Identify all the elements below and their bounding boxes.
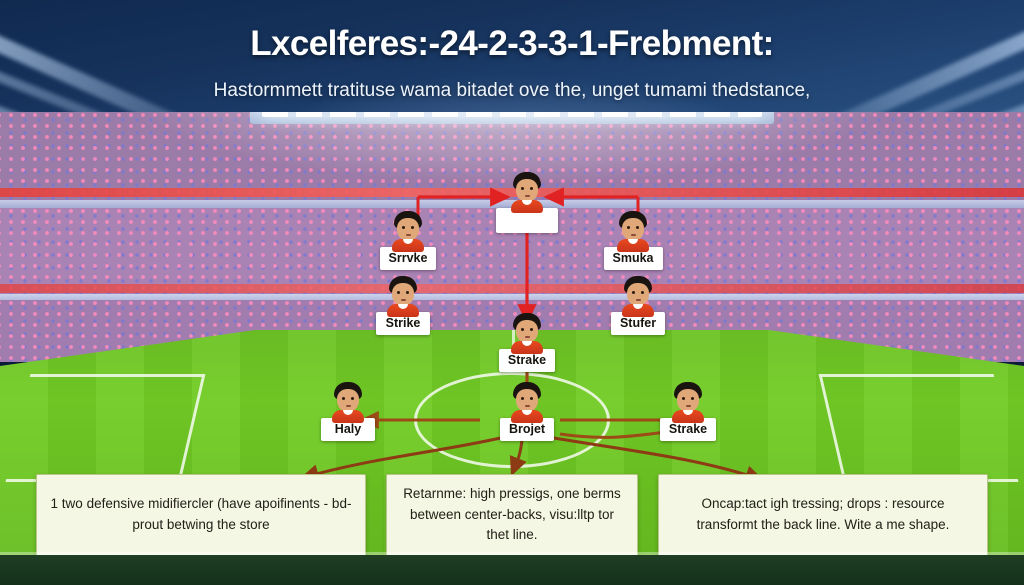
player-token[interactable] [489, 172, 565, 238]
formation-diagram-stage: Lxcelferes:-24-2-3-3-1-Frebment: Hastorm… [0, 0, 1024, 585]
player-avatar-icon [391, 211, 425, 249]
player-avatar-icon [671, 382, 705, 420]
player-token[interactable]: Srrvke [370, 211, 446, 270]
penalty-box-right [819, 374, 1019, 482]
player-avatar-icon [510, 382, 544, 420]
floodlight-bank-icon [262, 112, 762, 117]
player-avatar-icon [616, 211, 650, 249]
player-token[interactable]: Brojet [489, 382, 565, 441]
player-avatar-icon [510, 172, 544, 210]
caption-box-3: Oncap:tact igh tressing; drops : resourc… [658, 474, 988, 556]
footer-band [0, 555, 1024, 585]
player-token[interactable]: Strake [489, 313, 565, 372]
player-avatar-icon [510, 313, 544, 351]
player-token[interactable]: Haly [310, 382, 386, 441]
player-token[interactable]: Smuka [595, 211, 671, 270]
page-title: Lxcelferes:-24-2-3-3-1-Frebment: [0, 24, 1024, 64]
caption-text: Oncap:tact igh tressing; drops : resourc… [671, 494, 975, 536]
penalty-box-left [6, 374, 206, 482]
header-banner [0, 0, 1024, 128]
player-avatar-icon [621, 276, 655, 314]
player-token[interactable]: Strake [650, 382, 726, 441]
caption-box-1: 1 two defensive midifiercler (have apoif… [36, 474, 366, 556]
player-avatar-icon [331, 382, 365, 420]
player-token[interactable]: Strike [365, 276, 441, 335]
caption-box-2: Retarnme: high pressigs, one berms betwe… [386, 474, 638, 556]
player-avatar-icon [386, 276, 420, 314]
caption-text: 1 two defensive midifiercler (have apoif… [49, 494, 353, 536]
caption-text: Retarnme: high pressigs, one berms betwe… [399, 484, 625, 547]
player-token[interactable]: Stufer [600, 276, 676, 335]
caption-row: 1 two defensive midifiercler (have apoif… [0, 474, 1024, 556]
page-subtitle: Hastormmett tratituse wama bitadet ove t… [0, 80, 1024, 102]
stand-red-stripe [0, 284, 1024, 293]
